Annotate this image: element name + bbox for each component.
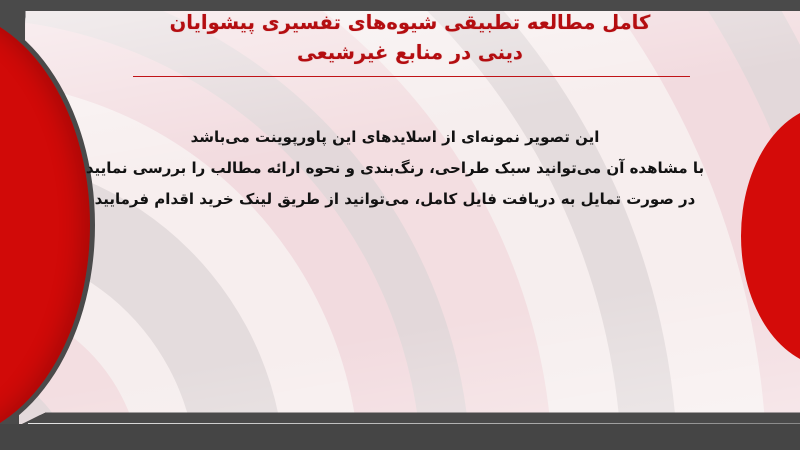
- body-line-1: این تصویر نمونه‌ای از اسلایدهای این پاور…: [80, 122, 710, 153]
- top-frame-band: [0, 0, 800, 11]
- title-line-1: کامل مطالعه تطبیقی شیوه‌های تفسیری پیشوا…: [120, 8, 700, 38]
- body-line-2: با مشاهده آن می‌توانید سبک طراحی، رنگ‌بن…: [80, 153, 710, 184]
- bottom-frame-band: [0, 424, 800, 450]
- slide-content-panel: [0, 10, 800, 425]
- slide-title: کامل مطالعه تطبیقی شیوه‌های تفسیری پیشوا…: [120, 8, 700, 68]
- presentation-slide: کامل مطالعه تطبیقی شیوه‌های تفسیری پیشوا…: [0, 0, 800, 450]
- slide-background-arcs: [0, 10, 800, 425]
- body-line-3: در صورت تمایل به دریافت فایل کامل، می‌تو…: [80, 184, 710, 215]
- slide-body-text: این تصویر نمونه‌ای از اسلایدهای این پاور…: [80, 122, 710, 215]
- title-line-2: دینی در منابع غیرشیعی: [120, 38, 700, 68]
- title-underline-rule: [133, 76, 690, 77]
